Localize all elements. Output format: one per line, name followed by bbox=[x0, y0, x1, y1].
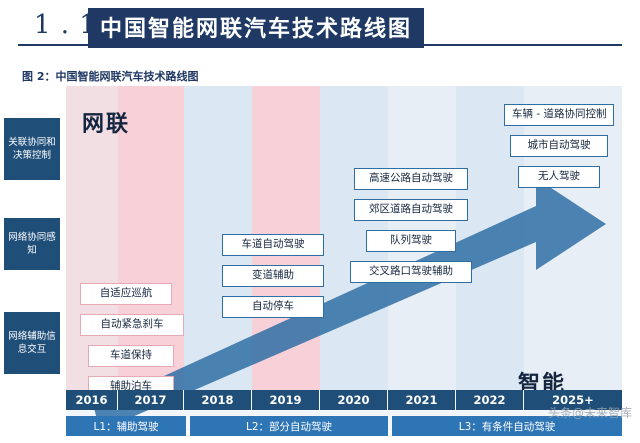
node-lane-keeping[interactable]: 车道保持 bbox=[88, 345, 174, 367]
year-2016[interactable]: 2016 bbox=[66, 390, 118, 410]
page-header: 1 . 1 中国智能网联汽车技术路线图 bbox=[0, 0, 640, 50]
year-2021[interactable]: 2021 bbox=[388, 390, 456, 410]
node-auto-parking[interactable]: 自动停车 bbox=[222, 296, 324, 318]
node-lane-change-assist[interactable]: 变道辅助 bbox=[222, 265, 324, 287]
node-urban-auto-drive[interactable]: 城市自动驾驶 bbox=[510, 135, 608, 157]
node-suburban-auto-drive[interactable]: 郊区道路自动驾驶 bbox=[354, 199, 468, 221]
year-2022[interactable]: 2022 bbox=[456, 390, 524, 410]
node-adaptive-cruise[interactable]: 自适应巡航 bbox=[80, 283, 172, 305]
node-v2i-coop-control[interactable]: 车辆 - 道路协同控制 bbox=[504, 104, 614, 126]
roadmap-chart: 网联 智能 自适应巡航 自动紧急刹车 车道保持 辅助泊车 车道自动驾驶 变道辅助… bbox=[66, 86, 622, 431]
level-l2[interactable]: L2：部分自动驾驶 bbox=[190, 416, 388, 436]
node-aeb[interactable]: 自动紧急刹车 bbox=[80, 314, 184, 336]
year-2019[interactable]: 2019 bbox=[252, 390, 320, 410]
axis-label-networked: 网联 bbox=[82, 106, 130, 138]
node-driverless[interactable]: 无人驾驶 bbox=[518, 166, 600, 188]
automation-level-axis: L1：辅助驾驶 L2：部分自动驾驶 L3：有条件自动驾驶 bbox=[66, 416, 622, 438]
year-2018[interactable]: 2018 bbox=[184, 390, 252, 410]
category-coop-decision-control[interactable]: 关联协同和决策控制 bbox=[4, 118, 60, 180]
year-axis: 2016 2017 2018 2019 2020 2021 2022 2025+ bbox=[66, 390, 622, 412]
node-highway-auto-drive[interactable]: 高速公路自动驾驶 bbox=[354, 168, 468, 190]
watermark: 头条@未来智库 bbox=[548, 404, 632, 421]
header-divider bbox=[18, 44, 622, 46]
node-lane-auto-drive[interactable]: 车道自动驾驶 bbox=[222, 234, 324, 256]
page-title: 中国智能网联汽车技术路线图 bbox=[88, 8, 424, 48]
level-l1[interactable]: L1：辅助驾驶 bbox=[66, 416, 186, 436]
year-2017[interactable]: 2017 bbox=[118, 390, 184, 410]
node-platooning[interactable]: 队列驾驶 bbox=[366, 230, 456, 252]
year-2020[interactable]: 2020 bbox=[320, 390, 388, 410]
category-assisted-info-exchange[interactable]: 网络辅助信息交互 bbox=[4, 312, 60, 374]
category-coop-perception[interactable]: 网络协同感知 bbox=[4, 218, 60, 270]
node-intersection-assist[interactable]: 交叉路口驾驶辅助 bbox=[350, 261, 472, 283]
figure-caption: 图 2：中国智能网联汽车技术路线图 bbox=[22, 68, 198, 84]
